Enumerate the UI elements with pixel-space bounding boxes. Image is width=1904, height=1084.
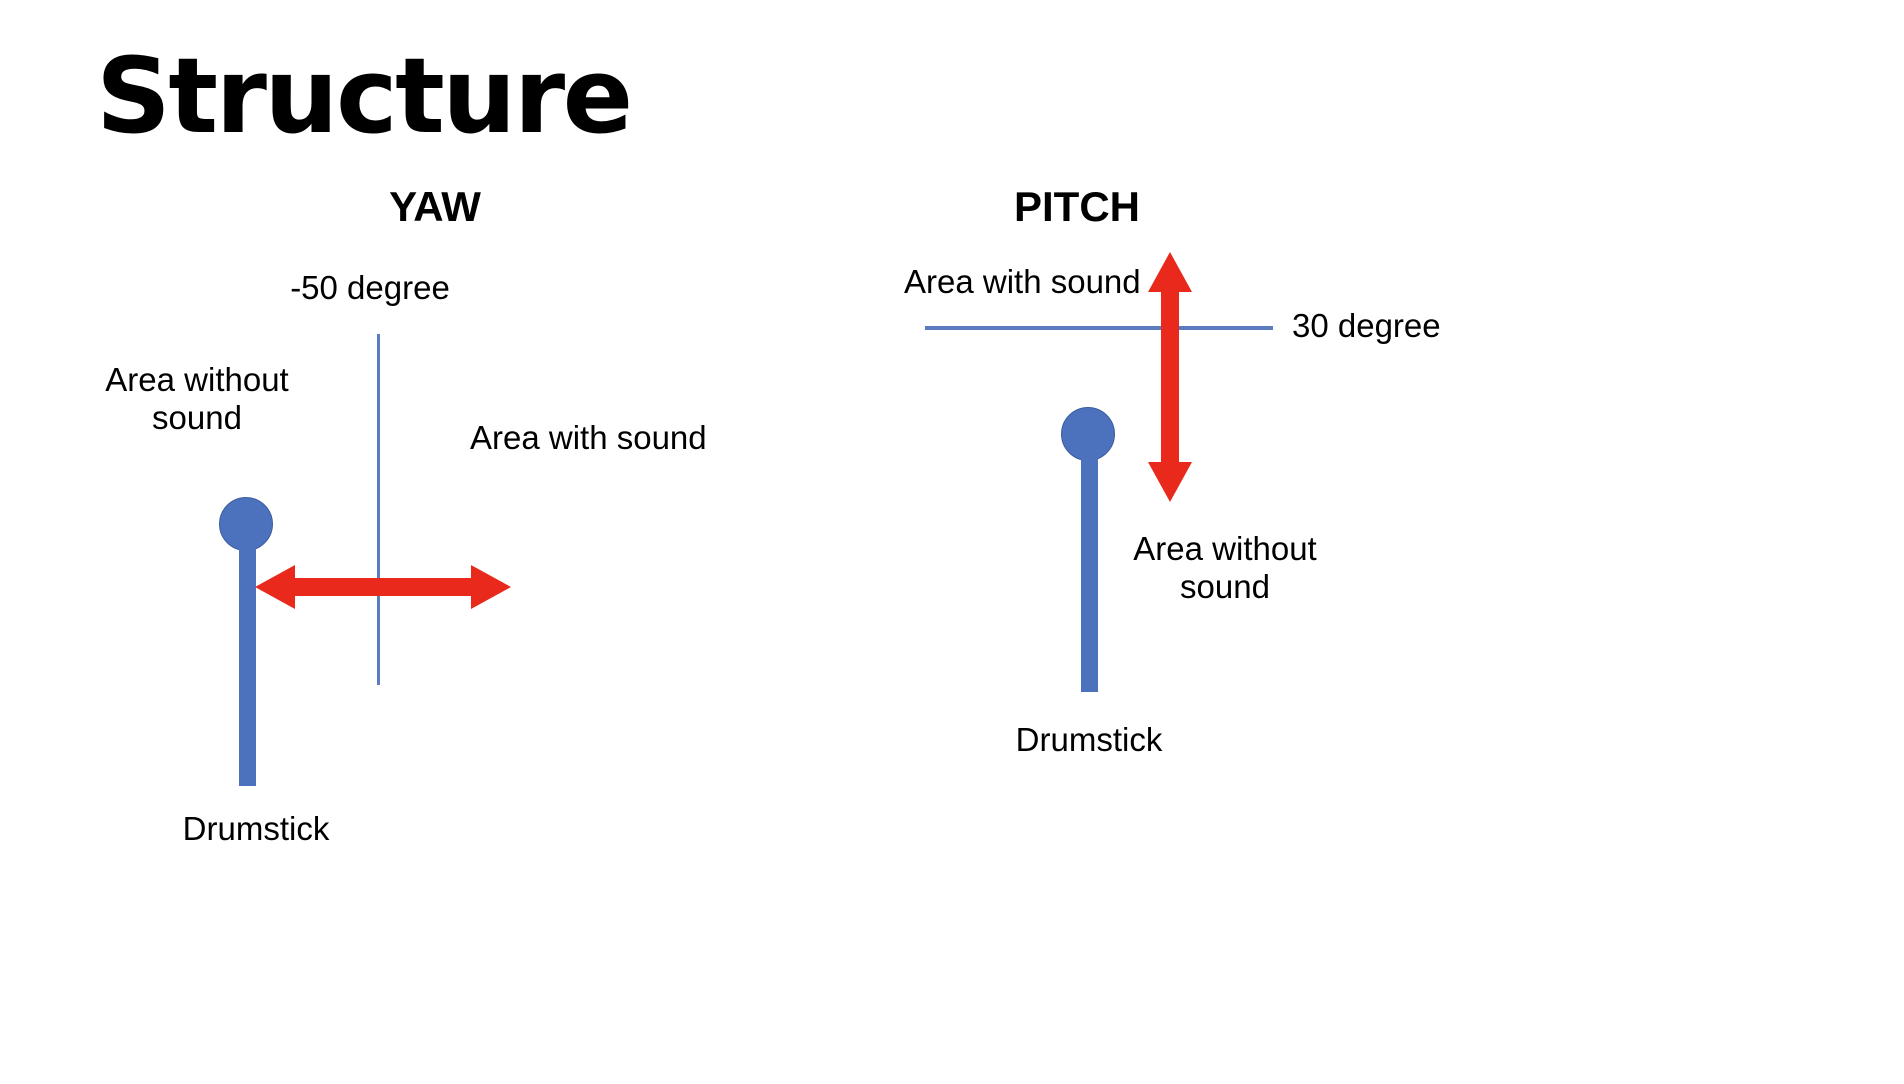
pitch-rotation-arrow [1142,252,1198,502]
pitch-heading: PITCH [957,186,1197,228]
pitch-double-arrow-icon [1142,252,1198,502]
yaw-rotation-arrow [255,559,511,615]
yaw-drumstick-shaft [239,536,256,786]
yaw-area-with-sound-label: Area with sound [470,419,700,457]
yaw-heading: YAW [315,186,555,228]
pitch-panel: PITCH Area with sound 30 degree Area wit… [880,0,1904,1084]
yaw-double-arrow-icon [255,559,511,615]
pitch-reference-line [925,326,1273,330]
slide-canvas: Structure YAW -50 degree Area without so… [0,0,1904,1084]
pitch-area-with-sound-label: Area with sound [904,263,1154,301]
yaw-area-without-sound-label: Area without sound [87,361,307,436]
yaw-reference-line [377,334,380,685]
pitch-area-without-sound-label: Area without sound [1115,530,1335,605]
pitch-drumstick-label: Drumstick [973,721,1205,759]
pitch-drumstick-shaft [1081,446,1098,692]
yaw-angle-label: -50 degree [250,269,490,307]
yaw-panel: YAW -50 degree Area without sound Area w… [0,0,900,1084]
yaw-drumstick-label: Drumstick [140,810,372,848]
pitch-angle-label: 30 degree [1292,307,1532,345]
